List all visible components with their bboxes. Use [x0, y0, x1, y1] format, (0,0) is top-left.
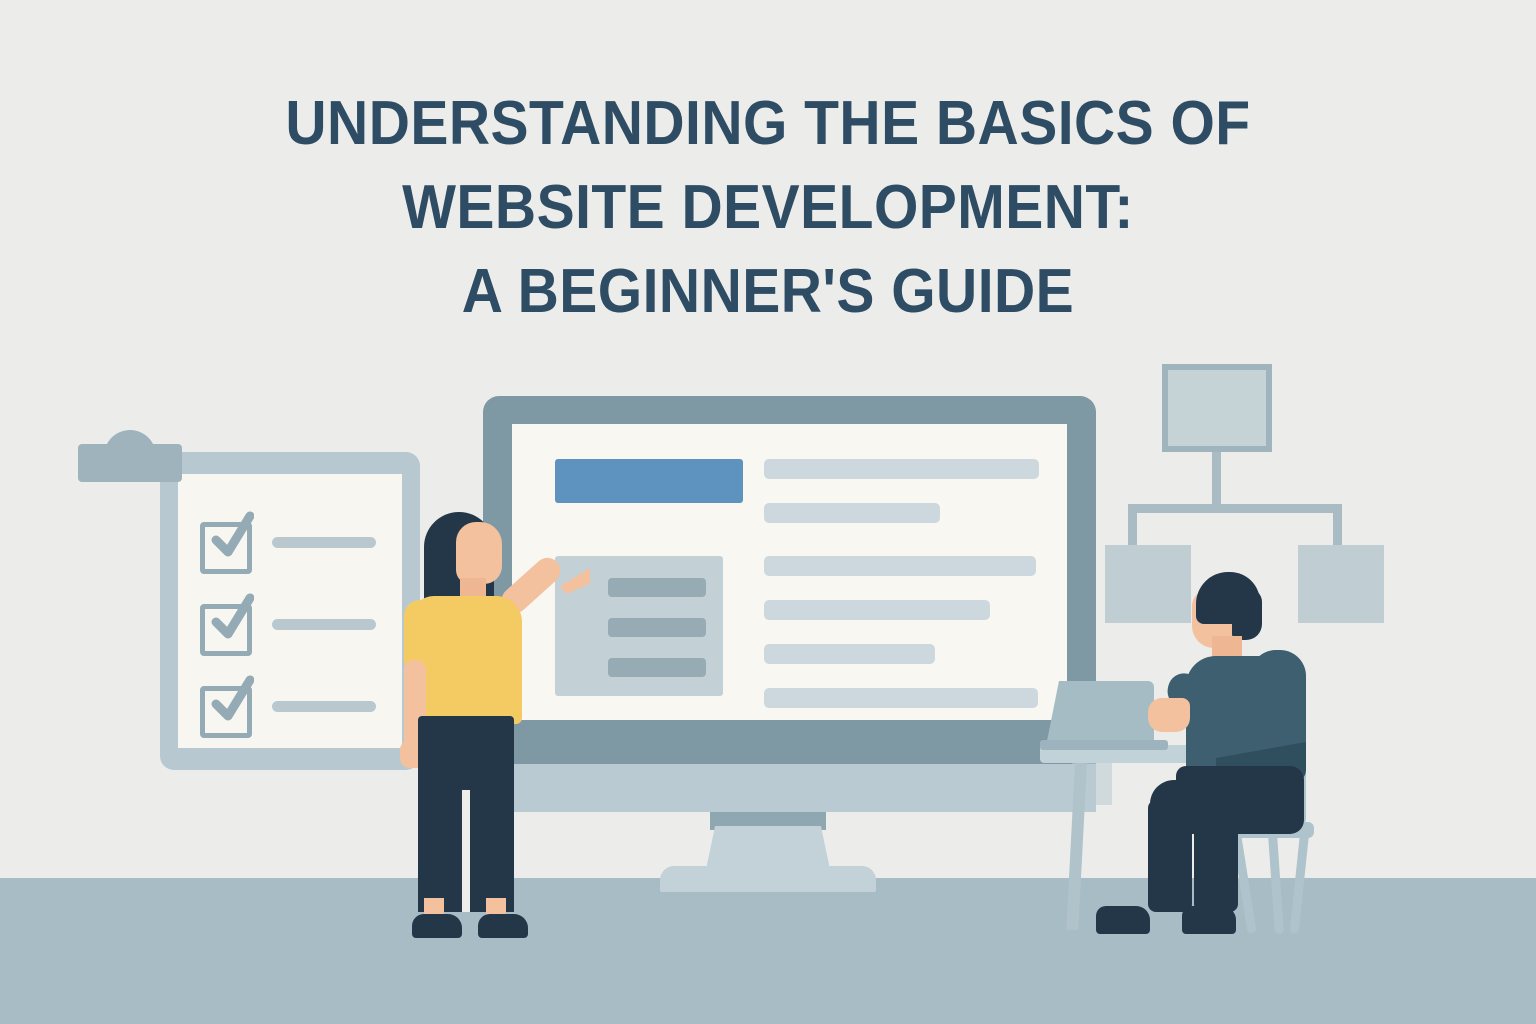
developer-hair-side: [1232, 588, 1262, 640]
sitemap-connector-vertical: [1212, 452, 1221, 504]
wireframe-card-bar: [608, 578, 706, 597]
laptop-screen: [1046, 681, 1154, 746]
developer-shin: [1148, 800, 1192, 912]
checkmark-icon: [210, 592, 254, 646]
sitemap-connector-horizontal: [1128, 504, 1342, 513]
presenter-shoe: [478, 914, 528, 938]
developer-shoe: [1182, 906, 1236, 934]
wireframe-card-bar: [608, 618, 706, 637]
page-title: Understanding the Basics of Website Deve…: [61, 82, 1474, 334]
sitemap-root-node-inner: [1168, 370, 1266, 446]
title-line-3: A Beginner's Guide: [61, 250, 1474, 334]
wireframe-text-bar: [764, 600, 990, 620]
monitor-screen: [512, 424, 1067, 720]
checklist-clipboard: [160, 452, 420, 770]
wireframe-text-bar: [764, 459, 1039, 479]
checklist-label-bar: [272, 537, 376, 548]
presenter-leg-gap: [462, 790, 470, 912]
checklist-label-bar: [272, 701, 376, 712]
clipboard-clip-knob: [104, 430, 156, 460]
wireframe-text-bar: [764, 688, 1038, 708]
developer-shin: [1194, 808, 1238, 912]
wireframe-text-bar: [764, 556, 1036, 576]
wireframe-hero-block: [555, 459, 743, 503]
checkmark-icon: [210, 674, 254, 728]
developer-hand: [1148, 698, 1190, 732]
developer-shoe: [1096, 906, 1150, 934]
illustration-canvas: Understanding the Basics of Website Deve…: [0, 0, 1536, 1024]
checklist-label-bar: [272, 619, 376, 630]
wireframe-card-bar: [608, 658, 706, 677]
checkmark-icon: [210, 510, 254, 564]
monitor-chin: [483, 764, 1096, 812]
monitor-base: [660, 866, 876, 892]
presenter-face: [456, 522, 502, 584]
title-line-2: Website Development:: [61, 166, 1474, 250]
wireframe-text-bar: [764, 503, 940, 523]
presenter-shoe: [412, 914, 462, 938]
wireframe-text-bar: [764, 644, 935, 664]
sitemap-child-node-left: [1105, 545, 1191, 623]
floor: [0, 878, 1536, 1024]
title-line-1: Understanding the Basics of: [61, 82, 1474, 166]
laptop-keyboard-base: [1040, 740, 1168, 750]
sitemap-child-node-right: [1298, 545, 1384, 623]
